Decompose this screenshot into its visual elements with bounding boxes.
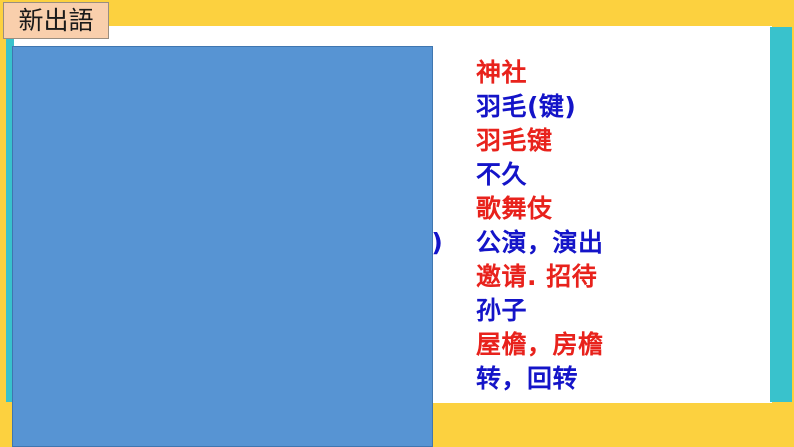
gloss-item: 羽毛(键) bbox=[476, 90, 766, 124]
gloss-item: 歌舞伎 bbox=[476, 192, 766, 226]
gloss-item: 邀请. 招待 bbox=[476, 260, 766, 294]
frame-accent-right-teal bbox=[770, 27, 792, 402]
page-title: 新出語 bbox=[18, 8, 93, 33]
gloss-item: 孙子 bbox=[476, 294, 766, 328]
content-image-placeholder bbox=[12, 46, 433, 447]
gloss-item: 转，回转 bbox=[476, 362, 766, 396]
gloss-item: 不久 bbox=[476, 158, 766, 192]
gloss-item: 神社 bbox=[476, 56, 766, 90]
frame-band-top-yellow bbox=[0, 0, 794, 26]
gloss-item: 屋檐，房檐 bbox=[476, 328, 766, 362]
vocabulary-gloss-list: 神社 羽毛(键) 羽毛键 不久 歌舞伎 公演，演出 邀请. 招待 孙子 屋檐，房… bbox=[476, 56, 766, 396]
gloss-item: 公演，演出 bbox=[476, 226, 766, 260]
title-tab: 新出語 bbox=[3, 2, 109, 39]
slide-root: 新出語 3) 神社 羽毛(键) 羽毛键 不久 歌舞伎 公演，演出 邀请. 招待 … bbox=[0, 0, 794, 447]
gloss-item: 羽毛键 bbox=[476, 124, 766, 158]
